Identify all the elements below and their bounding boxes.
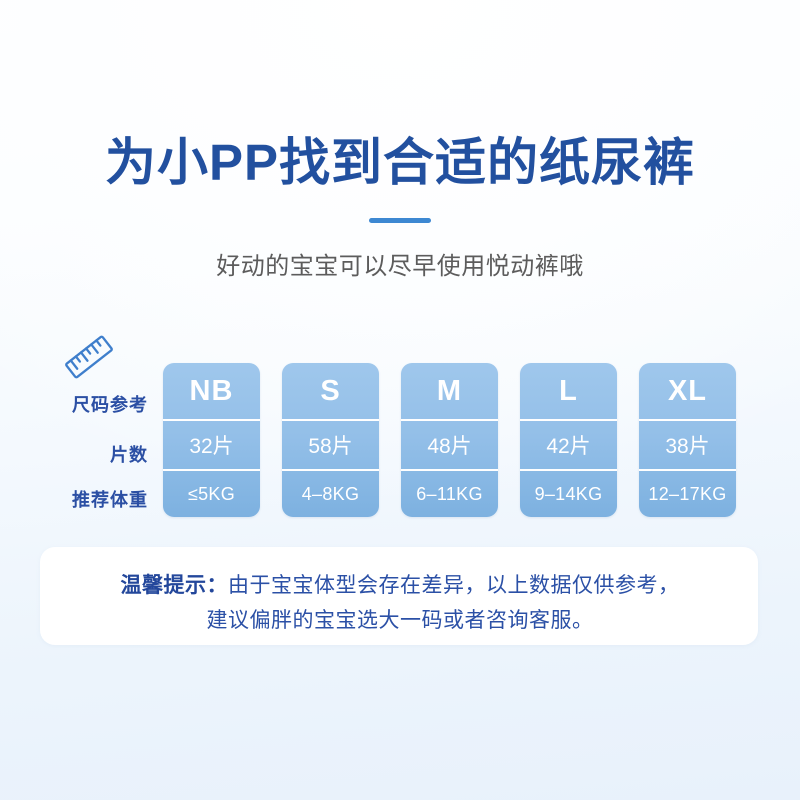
tip-line-2: 建议偏胖的宝宝选大一码或者咨询客服。	[207, 609, 594, 632]
cell-size: M	[401, 363, 498, 419]
cell-weight: 9–14KG	[520, 469, 617, 517]
cell-weight: ≤5KG	[163, 469, 260, 517]
page-root: 为小PP找到合适的纸尿裤 好动的宝宝可以尽早使用悦动裤哦 尺码参考 片数 推荐体…	[0, 0, 800, 800]
row-label-weight: 推荐体重	[30, 486, 148, 512]
tip-label: 温馨提示：	[121, 574, 229, 597]
cell-weight: 6–11KG	[401, 469, 498, 517]
page-title: 为小PP找到合适的纸尿裤	[0, 132, 800, 194]
size-column-s[interactable]: S 58片 4–8KG	[282, 363, 379, 517]
title-divider	[369, 218, 431, 223]
tip-content: 温馨提示：由于宝宝体型会存在差异，以上数据仅供参考， 建议偏胖的宝宝选大一码或者…	[55, 568, 745, 638]
cell-size: L	[520, 363, 617, 419]
cell-count: 38片	[639, 419, 736, 469]
cell-weight: 4–8KG	[282, 469, 379, 517]
tip-box: 温馨提示：由于宝宝体型会存在差异，以上数据仅供参考， 建议偏胖的宝宝选大一码或者…	[40, 547, 758, 645]
cell-size: XL	[639, 363, 736, 419]
cell-count: 32片	[163, 419, 260, 469]
cell-count: 42片	[520, 419, 617, 469]
page-subtitle: 好动的宝宝可以尽早使用悦动裤哦	[0, 250, 800, 284]
size-column-m[interactable]: M 48片 6–11KG	[401, 363, 498, 517]
size-reference-table: 尺码参考 片数 推荐体重 NB 32片 ≤5KG S 58片 4–8KG M 4…	[0, 363, 800, 515]
cell-size: S	[282, 363, 379, 419]
size-column-nb[interactable]: NB 32片 ≤5KG	[163, 363, 260, 517]
row-label-count: 片数	[30, 441, 148, 467]
cell-size: NB	[163, 363, 260, 419]
cell-count: 48片	[401, 419, 498, 469]
header: 为小PP找到合适的纸尿裤 好动的宝宝可以尽早使用悦动裤哦	[0, 132, 800, 284]
row-label-size: 尺码参考	[30, 391, 148, 417]
tip-line-1: 由于宝宝体型会存在差异，以上数据仅供参考，	[228, 574, 680, 597]
table-columns: NB 32片 ≤5KG S 58片 4–8KG M 48片 6–11KG L 4…	[163, 363, 736, 517]
cell-count: 58片	[282, 419, 379, 469]
table-row-labels: 尺码参考 片数 推荐体重	[30, 363, 148, 515]
cell-weight: 12–17KG	[639, 469, 736, 517]
size-column-l[interactable]: L 42片 9–14KG	[520, 363, 617, 517]
size-column-xl[interactable]: XL 38片 12–17KG	[639, 363, 736, 517]
